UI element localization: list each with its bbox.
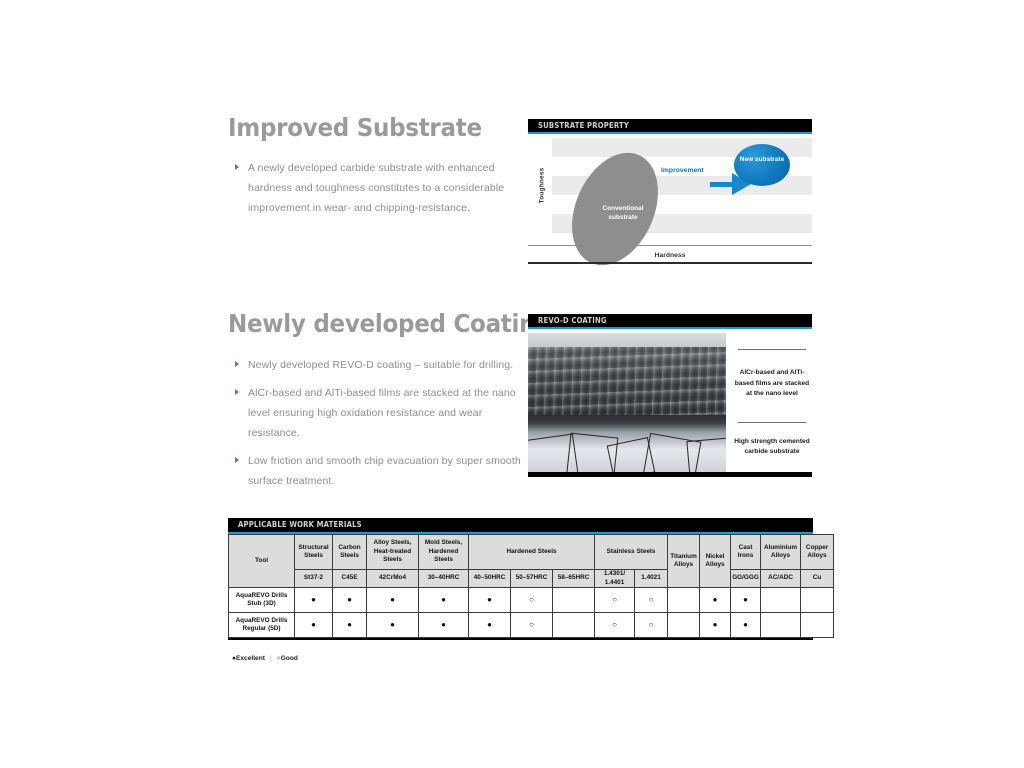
y-axis-label: Toughness	[539, 156, 546, 216]
legend-separator: |	[265, 655, 277, 662]
table-title: APPLICABLE WORK MATERIALS	[238, 520, 362, 529]
table-col-titanium-alloys: Titanium Alloys	[668, 535, 700, 588]
cell-mark: ●	[731, 613, 761, 638]
cell-mark	[668, 588, 700, 613]
table-col-nickel-alloys: Nickel Alloys	[700, 535, 731, 588]
cell-mark: ●	[367, 588, 419, 613]
cell-mark: ●	[295, 588, 333, 613]
cell-mark: ○	[595, 588, 635, 613]
table-subcol-gg-ggg: GG/GGG	[731, 570, 761, 588]
list-item: Newly developed REVO-D coating – suitabl…	[234, 355, 524, 375]
table-col-cast-irons: Cast Irons	[731, 535, 761, 570]
bullet-list-improved-substrate: A newly developed carbide substrate with…	[234, 158, 524, 218]
table-group-header-row: Tool Structural Steels Carbon Steels All…	[229, 535, 834, 570]
row-label-stub-3d: AquaREVO Drills Stub (3D)	[229, 588, 295, 613]
panel-bottom-bar	[528, 472, 812, 477]
cell-mark: ○	[595, 613, 635, 638]
table-subcol-st37-2: St37-2	[295, 570, 333, 588]
cell-mark: ●	[469, 613, 511, 638]
bullet-text: Newly developed REVO-D coating – suitabl…	[248, 359, 513, 371]
cell-mark	[553, 613, 595, 638]
new-substrate-label: New substrate	[734, 144, 790, 164]
section-title-newly-developed-coating: Newly developed Coating	[228, 309, 551, 338]
table-row: AquaREVO Drills Regular (5D) ● ● ● ● ● ○…	[229, 613, 834, 638]
panel-title: SUBSTRATE PROPERTY	[538, 121, 629, 130]
conventional-substrate-label: Conventional substrate	[588, 204, 658, 222]
table-subcol-cu: Cu	[801, 570, 834, 588]
cell-mark: ○	[635, 613, 668, 638]
coating-body: AlCr-based and AlTi-based films are stac…	[528, 329, 812, 477]
bullet-text: Low friction and smooth chip evacuation …	[248, 455, 521, 487]
table-col-carbon-steels: Carbon Steels	[333, 535, 367, 570]
substrate-chart: Toughness Conventional substrate Improve…	[528, 134, 812, 264]
panel-header-coating: REVO-D COATING	[528, 314, 812, 327]
triangle-bullet-icon	[235, 457, 239, 463]
cell-mark: ●	[333, 613, 367, 638]
divider	[738, 349, 806, 350]
table-col-hardened-steels: Hardened Steels	[469, 535, 595, 570]
cell-mark	[801, 613, 834, 638]
applicable-work-materials-table: APPLICABLE WORK MATERIALS Tool Structura…	[228, 518, 813, 640]
revo-d-coating-panel: REVO-D COATING AlCr-based and AlTi-based…	[528, 314, 812, 477]
table-sub-header-row: St37-2 C45E 42CrMo4 30–40HRC 40–50HRC 50…	[229, 570, 834, 588]
table-subcol-30-40hrc: 30–40HRC	[419, 570, 469, 588]
table-row: AquaREVO Drills Stub (3D) ● ● ● ● ● ○ ○ …	[229, 588, 834, 613]
table-legend: ●Excellent|○Good	[232, 655, 298, 662]
divider	[738, 422, 806, 423]
materials-table: Tool Structural Steels Carbon Steels All…	[228, 534, 834, 638]
cell-mark: ●	[419, 613, 469, 638]
x-axis-bottom-rule	[528, 262, 812, 264]
coating-note-top: AlCr-based and AlTi-based films are stac…	[734, 368, 810, 400]
improvement-label: Improvement	[661, 167, 704, 174]
cell-mark: ○	[635, 588, 668, 613]
table-subcol-1-4301-1-4401: 1.4301/ 1.4401	[595, 570, 635, 588]
cell-mark	[761, 613, 801, 638]
x-axis-label: Hardness	[528, 252, 812, 259]
bullet-text: AlCr-based and AlTi-based films are stac…	[248, 387, 516, 439]
cell-mark	[553, 588, 595, 613]
x-axis-top-rule	[528, 245, 812, 246]
triangle-bullet-icon	[235, 361, 239, 367]
cell-mark: ○	[511, 613, 553, 638]
table-col-structural-steels: Structural Steels	[295, 535, 333, 570]
triangle-bullet-icon	[235, 164, 239, 170]
table-subcol-1-4021: 1.4021	[635, 570, 668, 588]
table-col-aluminium-alloys: Aluminium Alloys	[761, 535, 801, 570]
table-header-bar: APPLICABLE WORK MATERIALS	[228, 518, 813, 532]
legend-good-label: Good	[281, 655, 298, 662]
triangle-bullet-icon	[235, 389, 239, 395]
legend-excellent-label: Excellent	[236, 655, 265, 662]
cell-mark: ●	[731, 588, 761, 613]
coating-annotations: AlCr-based and AlTi-based films are stac…	[734, 333, 810, 473]
table-subcol-ac-adc: AC/ADC	[761, 570, 801, 588]
cell-mark: ●	[419, 588, 469, 613]
panel-title: REVO-D COATING	[538, 316, 607, 325]
table-subcol-40-50hrc: 40–50HRC	[469, 570, 511, 588]
bullet-text: A newly developed carbide substrate with…	[248, 162, 504, 214]
table-col-alloy-steels: Alloy Steels, Heat-treated Steels	[367, 535, 419, 570]
table-bottom-rule	[228, 638, 813, 640]
coating-note-bottom: High strength cemented carbide substrate	[734, 437, 810, 458]
sem-micrograph-image	[528, 333, 726, 473]
new-substrate-circle: New substrate	[734, 144, 790, 186]
cell-mark: ●	[295, 613, 333, 638]
cell-mark: ●	[700, 613, 731, 638]
cell-mark: ●	[333, 588, 367, 613]
table-col-stainless-steels: Stainless Steels	[595, 535, 668, 570]
substrate-property-panel: SUBSTRATE PROPERTY Toughness Conventiona…	[528, 119, 812, 264]
table-col-copper-alloys: Copper Alloys	[801, 535, 834, 570]
table-subcol-42crmo4: 42CrMo4	[367, 570, 419, 588]
table-subcol-50-57hrc: 50–57HRC	[511, 570, 553, 588]
cell-mark	[668, 613, 700, 638]
table-col-mold-steels: Mold Steels, Hardened Steels	[419, 535, 469, 570]
list-item: AlCr-based and AlTi-based films are stac…	[234, 383, 524, 443]
table-subcol-58-65hrc: 58–65HRC	[553, 570, 595, 588]
cell-mark: ●	[469, 588, 511, 613]
cell-mark	[761, 588, 801, 613]
bullet-list-newly-developed-coating: Newly developed REVO-D coating – suitabl…	[234, 355, 524, 491]
cell-mark: ●	[367, 613, 419, 638]
cell-mark: ●	[700, 588, 731, 613]
table-col-tool: Tool	[229, 535, 295, 588]
list-item: A newly developed carbide substrate with…	[234, 158, 524, 218]
row-label-regular-5d: AquaREVO Drills Regular (5D)	[229, 613, 295, 638]
panel-header-substrate: SUBSTRATE PROPERTY	[528, 119, 812, 132]
list-item: Low friction and smooth chip evacuation …	[234, 451, 524, 491]
table-subcol-c45e: C45E	[333, 570, 367, 588]
section-title-improved-substrate: Improved Substrate	[228, 113, 482, 142]
cell-mark: ○	[511, 588, 553, 613]
cell-mark	[801, 588, 834, 613]
